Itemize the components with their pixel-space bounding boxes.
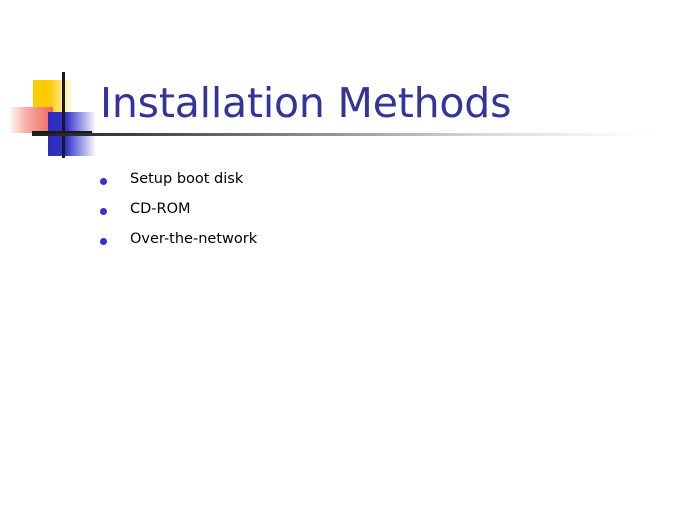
bullet-dot-icon <box>100 208 107 215</box>
logo-red-square-icon <box>8 107 53 133</box>
slide-title: Installation Methods <box>100 82 511 125</box>
list-item-label: CD-ROM <box>130 202 191 218</box>
decorative-squares-logo-icon <box>0 60 110 165</box>
slide: Installation Methods Setup boot disk CD-… <box>0 0 700 525</box>
title-divider <box>32 133 657 136</box>
list-item-label: Over-the-network <box>130 232 257 248</box>
bullet-dot-icon <box>100 238 107 245</box>
bullet-dot-icon <box>100 178 107 185</box>
logo-vertical-line-icon <box>62 72 65 158</box>
list-item: Setup boot disk <box>100 172 620 202</box>
list-item: CD-ROM <box>100 202 620 232</box>
list-item: Over-the-network <box>100 232 620 262</box>
bullet-list: Setup boot disk CD-ROM Over-the-network <box>100 172 620 262</box>
list-item-label: Setup boot disk <box>130 172 243 188</box>
